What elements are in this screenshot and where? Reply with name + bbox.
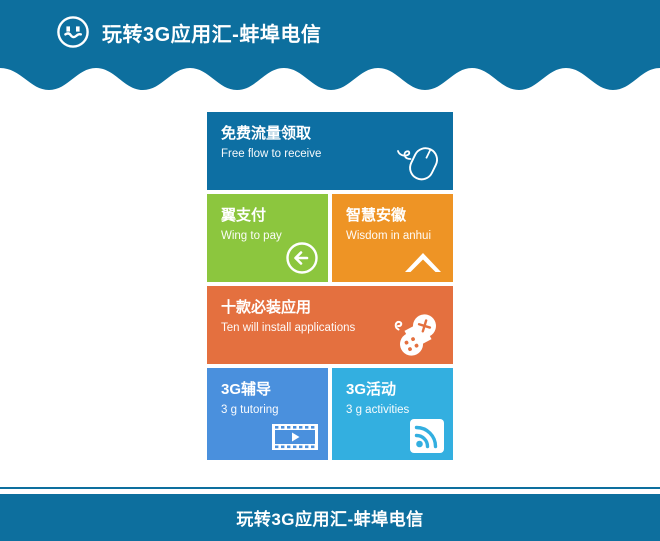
tile-wing-to-pay[interactable]: 翼支付 Wing to pay bbox=[207, 194, 328, 282]
page-title: 玩转3G应用汇-蚌埠电信 bbox=[102, 18, 321, 47]
tile-row: 3G辅导 3 g tutoring bbox=[207, 368, 453, 460]
rss-feed-icon bbox=[410, 419, 444, 453]
tile-ten-install-applications[interactable]: 十款必装应用 Ten will install applications bbox=[207, 286, 453, 364]
tile-subtitle: 3 g activities bbox=[346, 403, 453, 417]
film-play-icon bbox=[271, 421, 319, 453]
footer-title: 玩转3G应用汇-蚌埠电信 bbox=[236, 505, 423, 530]
tile-row: 翼支付 Wing to pay 智慧安徽 Wisdom in anhui bbox=[207, 194, 453, 282]
tile-3g-tutoring[interactable]: 3G辅导 3 g tutoring bbox=[207, 368, 328, 460]
tile-grid: 免费流量领取 Free flow to receive 翼支付 Wing to … bbox=[207, 112, 453, 464]
tile-row: 免费流量领取 Free flow to receive bbox=[207, 112, 453, 190]
gamepad-icon bbox=[392, 313, 444, 357]
tile-subtitle: Wisdom in anhui bbox=[346, 229, 453, 243]
tile-row: 十款必装应用 Ten will install applications bbox=[207, 286, 453, 364]
page-footer: 玩转3G应用汇-蚌埠电信 bbox=[0, 494, 660, 541]
wave-divider bbox=[0, 56, 660, 100]
tile-subtitle: 3 g tutoring bbox=[221, 403, 328, 417]
chevron-up-icon bbox=[402, 247, 444, 275]
footer-divider-rule bbox=[0, 487, 660, 489]
tile-title: 3G辅导 bbox=[221, 381, 328, 399]
tile-wisdom-in-anhui[interactable]: 智慧安徽 Wisdom in anhui bbox=[332, 194, 453, 282]
header-content: 玩转3G应用汇-蚌埠电信 bbox=[0, 0, 660, 64]
tile-title: 3G活动 bbox=[346, 381, 453, 399]
arrow-left-circle-icon bbox=[285, 241, 319, 275]
tile-title: 翼支付 bbox=[221, 207, 328, 225]
tile-title: 免费流量领取 bbox=[221, 125, 453, 143]
page-header: 玩转3G应用汇-蚌埠电信 bbox=[0, 0, 660, 64]
tile-free-flow[interactable]: 免费流量领取 Free flow to receive bbox=[207, 112, 453, 190]
tile-title: 智慧安徽 bbox=[346, 207, 453, 225]
tile-3g-activities[interactable]: 3G活动 3 g activities bbox=[332, 368, 453, 460]
mouse-icon bbox=[394, 143, 444, 183]
smiley-face-icon bbox=[56, 15, 90, 49]
